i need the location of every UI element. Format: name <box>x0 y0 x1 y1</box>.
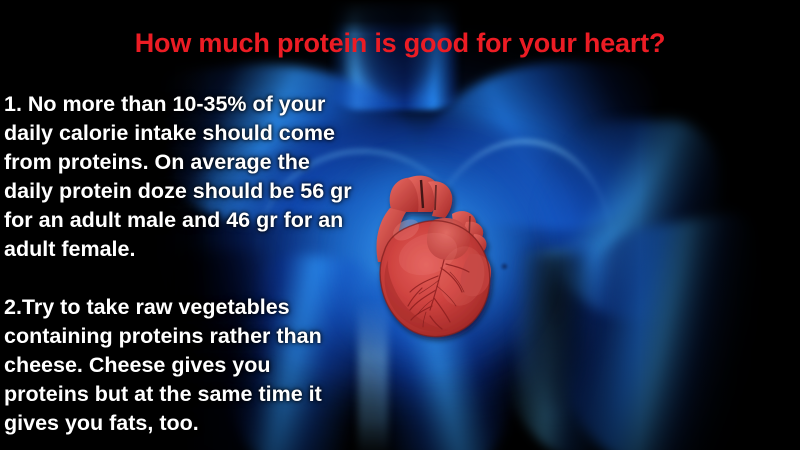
arm-shape <box>542 210 788 450</box>
anatomical-heart-image <box>366 168 514 353</box>
deltoid-shape <box>540 120 720 320</box>
heart-illustration-icon <box>366 168 514 353</box>
page-title: How much protein is good for your heart? <box>0 28 800 59</box>
tip-paragraph-2: 2.Try to take raw vegetables containing … <box>4 293 356 438</box>
tip-paragraph-1: 1. No more than 10-35% of your daily cal… <box>4 90 356 264</box>
body-copy: 1. No more than 10-35% of your daily cal… <box>4 90 356 438</box>
right-black-fade <box>640 0 800 450</box>
slide-canvas: How much protein is good for your heart?… <box>0 0 800 450</box>
